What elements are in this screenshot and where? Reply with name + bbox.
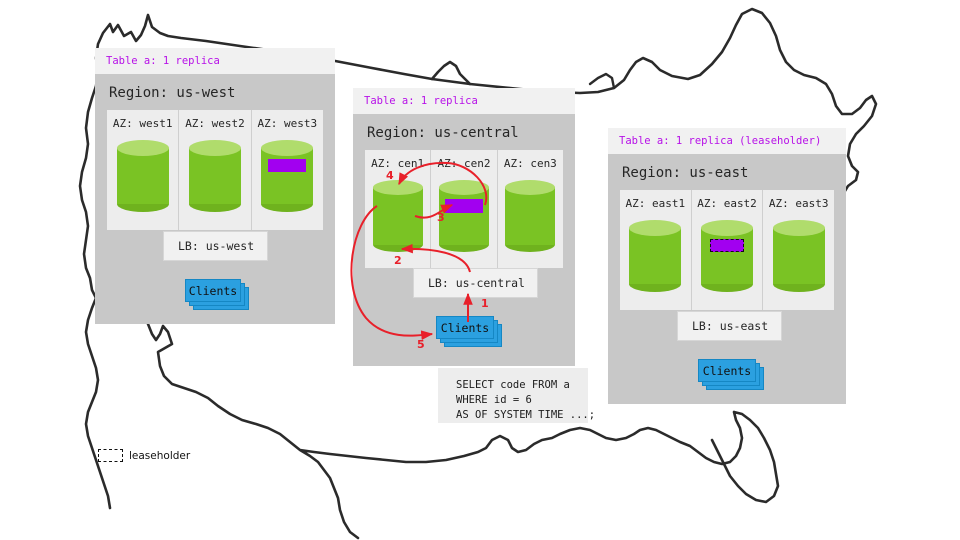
flow-step-number-1: 1 xyxy=(481,297,489,310)
flow-step-number-4: 4 xyxy=(386,169,394,182)
flow-step-number-5: 5 xyxy=(417,338,425,351)
flow-step-number-3: 3 xyxy=(437,211,445,224)
flow-step-numbers: 1 2 3 4 5 xyxy=(0,0,960,540)
diagram-canvas: Table a: 1 replica Region: us-west AZ: w… xyxy=(0,0,960,540)
flow-step-number-2: 2 xyxy=(394,254,402,267)
